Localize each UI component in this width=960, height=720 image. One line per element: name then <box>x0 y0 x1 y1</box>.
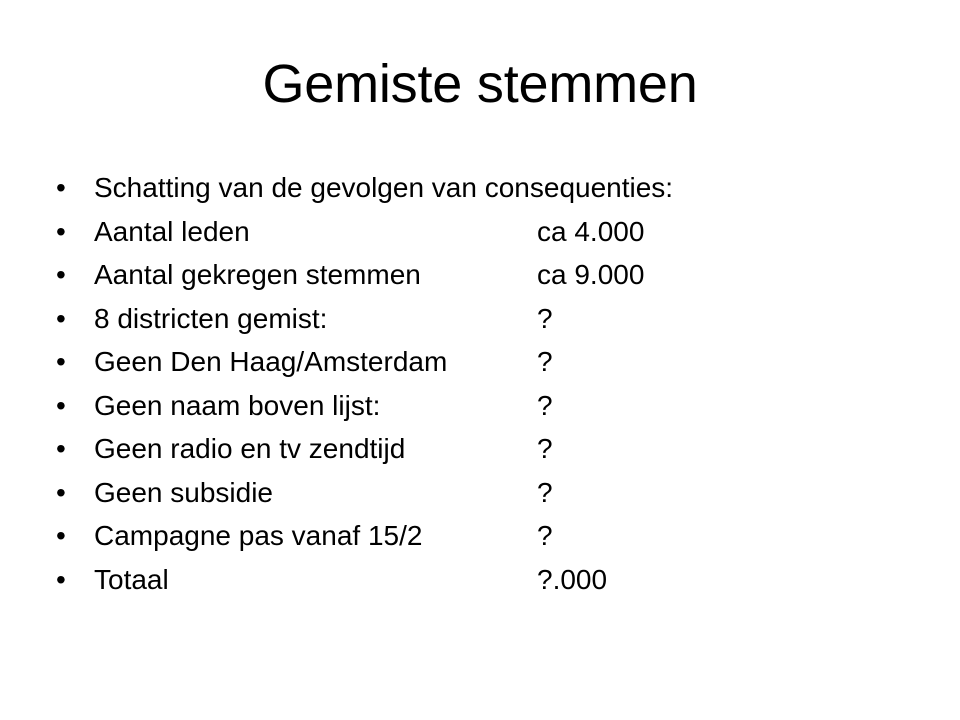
list-item: • Totaal ?.000 <box>56 558 916 602</box>
list-item-label: Geen naam boven lijst: <box>94 384 537 428</box>
list-item-value: ? <box>537 340 553 384</box>
list-item-value: ca 4.000 <box>537 210 644 254</box>
list-item-value: ? <box>537 427 553 471</box>
list-item-label: Campagne pas vanaf 15/2 <box>94 514 537 558</box>
bullet-icon: • <box>56 253 94 297</box>
list-item-label: Aantal gekregen stemmen <box>94 253 537 297</box>
page-title: Gemiste stemmen <box>0 55 960 113</box>
list-item-label: Geen radio en tv zendtijd <box>94 427 537 471</box>
list-item: • Geen radio en tv zendtijd ? <box>56 427 916 471</box>
bullet-icon: • <box>56 514 94 558</box>
list-item: • Geen naam boven lijst: ? <box>56 384 916 428</box>
list-item-label: Aantal leden <box>94 210 537 254</box>
bullet-list: • Schatting van de gevolgen van conseque… <box>56 166 916 601</box>
list-item: • Aantal gekregen stemmen ca 9.000 <box>56 253 916 297</box>
bullet-icon: • <box>56 297 94 341</box>
list-item-value: ? <box>537 514 553 558</box>
list-item: • Schatting van de gevolgen van conseque… <box>56 166 916 210</box>
list-item-value: ? <box>537 384 553 428</box>
list-item-value: ?.000 <box>537 558 607 602</box>
list-item-label: Geen subsidie <box>94 471 537 515</box>
list-item: • Aantal leden ca 4.000 <box>56 210 916 254</box>
list-item-value: ? <box>537 471 553 515</box>
bullet-icon: • <box>56 471 94 515</box>
bullet-icon: • <box>56 427 94 471</box>
bullet-icon: • <box>56 558 94 602</box>
bullet-icon: • <box>56 166 94 210</box>
list-item-label: Schatting van de gevolgen van consequent… <box>94 166 537 210</box>
list-item-value: ca 9.000 <box>537 253 644 297</box>
list-item: • Geen Den Haag/Amsterdam ? <box>56 340 916 384</box>
list-item: • Geen subsidie ? <box>56 471 916 515</box>
bullet-icon: • <box>56 340 94 384</box>
list-item-label: Totaal <box>94 558 537 602</box>
bullet-icon: • <box>56 384 94 428</box>
list-item: • Campagne pas vanaf 15/2 ? <box>56 514 916 558</box>
list-item-label: 8 districten gemist: <box>94 297 537 341</box>
bullet-icon: • <box>56 210 94 254</box>
list-item-value: ? <box>537 297 553 341</box>
list-item: • 8 districten gemist: ? <box>56 297 916 341</box>
list-item-label: Geen Den Haag/Amsterdam <box>94 340 537 384</box>
slide-canvas: Gemiste stemmen • Schatting van de gevol… <box>0 0 960 720</box>
